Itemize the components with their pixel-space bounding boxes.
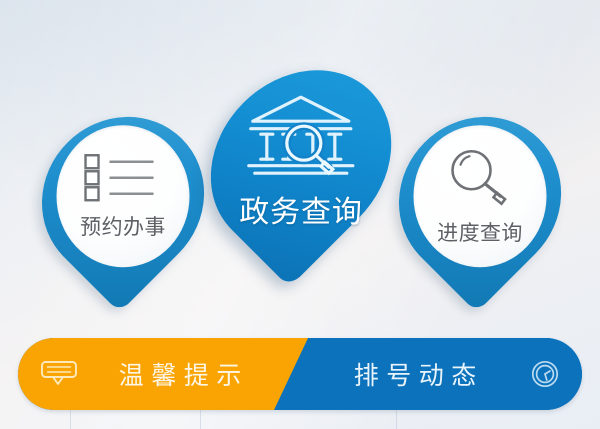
service-pin-group: 预约办事 进度查询: [0, 0, 600, 330]
pin-face: 政务查询: [204, 52, 398, 270]
pin-face: 进度查询: [414, 126, 547, 268]
speech-bubble-icon: [40, 359, 78, 389]
panel-seam: [396, 409, 397, 429]
service-pin-government-inquiry[interactable]: 政务查询: [188, 36, 414, 308]
panel-seam: [200, 409, 201, 429]
checklist-icon: [84, 152, 162, 202]
bottom-tab-bar: 排号动态: [18, 338, 582, 410]
service-pin-label: 预约办事: [80, 211, 166, 241]
tab-queue-status[interactable]: 排号动态: [274, 338, 582, 410]
tab-queue-label: 排号动态: [274, 356, 530, 392]
panel-seam: [70, 409, 71, 429]
tab-warm-tips[interactable]: 温馨提示: [18, 338, 308, 410]
government-building-search-icon: [239, 91, 363, 177]
clock-icon: [530, 359, 560, 389]
service-pin-label: 进度查询: [437, 217, 523, 247]
tab-tips-label: 温馨提示: [78, 356, 308, 392]
pin-face: 预约办事: [57, 126, 190, 268]
magnifier-icon: [444, 146, 516, 208]
kiosk-home-screen: 预约办事 进度查询: [0, 0, 600, 429]
service-pin-label: 政务查询: [239, 187, 363, 231]
